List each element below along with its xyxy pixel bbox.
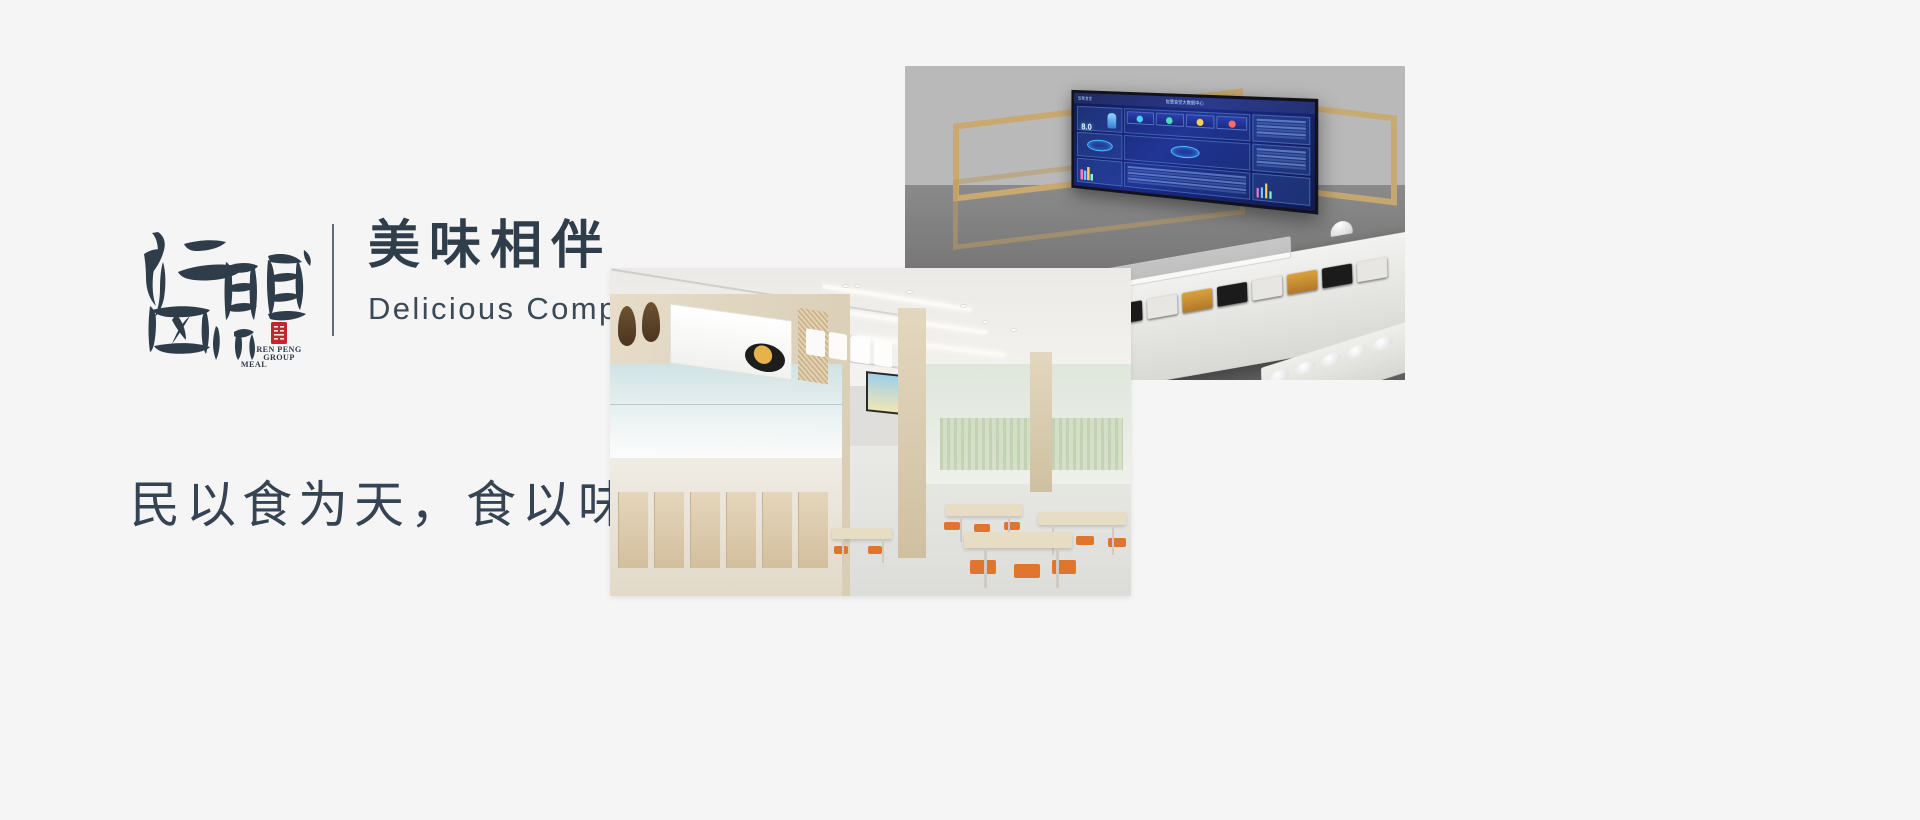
dashboard-header-left: 智慧食堂: [1078, 96, 1092, 101]
food-tray: [1322, 263, 1353, 288]
red-seal: [271, 322, 287, 344]
logo-latin-line-3: MEAL: [190, 360, 318, 369]
dashboard-kpi-2: [1156, 113, 1184, 127]
column-far: [1030, 352, 1052, 492]
dashboard-table-right-top: [1254, 116, 1308, 143]
dashboard-panel-right-mid: [1252, 144, 1310, 176]
svg-text:GROUP: GROUP: [263, 353, 295, 360]
food-tray: [1147, 294, 1178, 319]
dashboard-bar-chart-right: [1257, 181, 1272, 199]
dining-set: [828, 520, 898, 576]
dashboard-kpi-row: [1125, 109, 1249, 133]
dining-set-foreground: [958, 526, 1078, 596]
brand-divider: [332, 224, 334, 336]
food-tray: [1287, 270, 1318, 295]
plate-stack-shelf: [1261, 321, 1405, 380]
dashboard-ring-chart: [1170, 145, 1199, 159]
dashboard-panel-right-top: [1252, 114, 1310, 145]
food-tray: [1357, 257, 1388, 282]
dashboard-panel-left-top: 8.0: [1077, 106, 1122, 133]
dashboard-panel-left-mid: [1077, 132, 1122, 160]
dashboard-bar-chart-left: [1080, 165, 1092, 181]
food-tray: [1252, 276, 1283, 301]
dashboard-avatar: [1108, 113, 1117, 129]
dashboard-big-value: 8.0: [1081, 122, 1091, 132]
dashboard-table-right-mid: [1254, 146, 1308, 174]
dashboard-radar-chart: [1087, 139, 1113, 152]
food-tray: [1217, 282, 1248, 307]
hero-banner: 智慧食堂 智慧食堂大数据中心 8.0: [0, 0, 1920, 820]
renpeng-logo: REN PENG GROUP MEAL: [128, 210, 318, 360]
canteen-interior-photo: [610, 268, 1131, 596]
column-near: [898, 308, 926, 558]
food-tray: [1182, 288, 1213, 313]
dashboard-panel-left-bottom: [1077, 158, 1122, 187]
dashboard-kpi-3: [1185, 114, 1214, 129]
noodle-bowl-photo: [745, 341, 785, 375]
dashboard-kpi-1: [1127, 111, 1154, 125]
dashboard-kpi-4: [1217, 116, 1247, 131]
dashboard-grid: 8.0: [1077, 106, 1310, 206]
dashboard-panel-right-bottom: [1252, 173, 1310, 206]
